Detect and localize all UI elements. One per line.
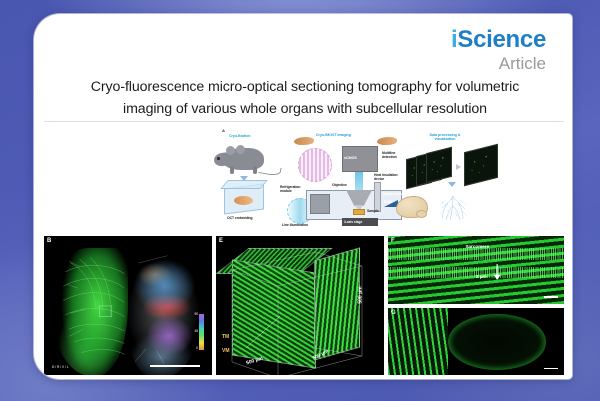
- panel-letter-b: B: [47, 238, 51, 244]
- data-slab-result: [464, 144, 498, 186]
- page-title: Cryo-fluorescence micro-optical sectioni…: [56, 76, 554, 120]
- figure-panel-right-column: F Sarcomere 2 μm G: [388, 236, 564, 375]
- vasculature-svg: [436, 194, 470, 222]
- figure-panel-b[interactable]: B 90 45 0 D / R / V / L: [44, 236, 212, 375]
- label-oct-embedding: OCT embedding: [227, 216, 253, 220]
- vessel-wall-fibers: [388, 308, 448, 376]
- data-slab: [426, 147, 452, 183]
- label-sample-tank: Sample tank: [382, 192, 402, 196]
- scale-bar: [544, 296, 558, 297]
- refrigeration-module-illustration: [310, 194, 330, 214]
- vasculature-rendering: [436, 194, 470, 222]
- scale-bar: [150, 365, 200, 367]
- mouse-tail-icon: [258, 164, 281, 177]
- mouse-ear-icon: [236, 145, 245, 154]
- label-stage: 3-axis stage: [344, 220, 362, 224]
- label-data-processing: Data processing & visualization: [422, 133, 468, 142]
- label-refrigeration-module: Refrigeration module: [280, 186, 304, 193]
- mouse-leg-icon: [253, 166, 257, 174]
- sarcomere-arrow-svg: [388, 236, 564, 304]
- orientation-axes-label: D / R / V / L: [52, 366, 68, 369]
- mouse-ear-icon: [226, 146, 235, 155]
- colorbar-tick-mid: 45: [194, 329, 198, 333]
- mouse-eye-icon: [217, 157, 220, 160]
- panel-letter-e: E: [219, 238, 223, 244]
- label-objective: Objective: [332, 183, 347, 187]
- journal-brand: iScience Article: [451, 28, 546, 72]
- figure-row: B 90 45 0 D / R / V / L: [44, 236, 564, 375]
- panel-letter-a: A: [222, 128, 225, 133]
- label-scmos: sCMOS: [344, 156, 357, 160]
- header-divider: [44, 121, 564, 122]
- label-heat-insulation: Heat insulation device: [374, 174, 398, 181]
- fiber-streamlines-svg: [44, 236, 212, 375]
- label-cryo-fixation: Cryo-fixation: [229, 134, 251, 138]
- journal-name-rest: Science: [457, 26, 546, 53]
- title-line-2: imaging of various whole organs with sub…: [56, 98, 554, 120]
- figure-panel-e[interactable]: E TM: [216, 236, 384, 375]
- label-cryo-fmost: Cryo-fMOST imaging: [316, 133, 351, 137]
- workflow-diagram: A Cryo-fixation OCT embedding Cryo-fMOST…: [44, 126, 564, 232]
- brain-small-illustration: [377, 137, 397, 145]
- brain-small-illustration: [294, 137, 314, 145]
- heat-insulation-illustration: [374, 182, 381, 212]
- mouse-leg-icon: [230, 166, 234, 174]
- colorbar-tick-bottom: 0: [196, 346, 198, 350]
- label-line-illumination: Line illumination: [282, 223, 308, 227]
- figure-panel-g[interactable]: G: [388, 308, 564, 376]
- label-sample: Sample: [367, 209, 379, 213]
- figure-panel-f[interactable]: F Sarcomere 2 μm: [388, 236, 564, 304]
- vessel-lumen-ring: [448, 314, 547, 369]
- measurement-2um: 2 μm: [476, 274, 487, 279]
- label-knife: Knife: [384, 200, 392, 204]
- label-vm: VM: [222, 348, 230, 354]
- label-multiline-detection: Multiline detection: [382, 152, 404, 160]
- label-tm: TM: [222, 334, 229, 340]
- cube-wireframe-svg: [226, 244, 372, 375]
- colorbar-tick-top: 90: [194, 312, 198, 316]
- panel-letter-g: G: [391, 310, 396, 316]
- title-line-1: Cryo-fluorescence micro-optical sectioni…: [56, 76, 554, 98]
- oct-block-top-face: [220, 180, 268, 189]
- scale-bar: [544, 368, 558, 369]
- fiber-cube-rendering: [226, 244, 372, 375]
- abstract-card: iScience Article Cryo-fluorescence micro…: [34, 14, 572, 379]
- flow-arrow-down-icon: [448, 182, 456, 187]
- light-beam-illustration: [355, 172, 363, 191]
- dimension-label-z: 500 μm: [358, 286, 364, 303]
- flow-arrow-right-icon: [456, 164, 461, 170]
- oct-embedded-sample: [234, 196, 253, 205]
- stripe-preview-illustration: [298, 148, 332, 182]
- colorbar: [199, 314, 204, 350]
- sample-block-illustration: [353, 209, 365, 215]
- cerebellum-illustration: [416, 210, 427, 218]
- journal-article-type: Article: [451, 55, 546, 72]
- journal-name: iScience: [451, 28, 546, 52]
